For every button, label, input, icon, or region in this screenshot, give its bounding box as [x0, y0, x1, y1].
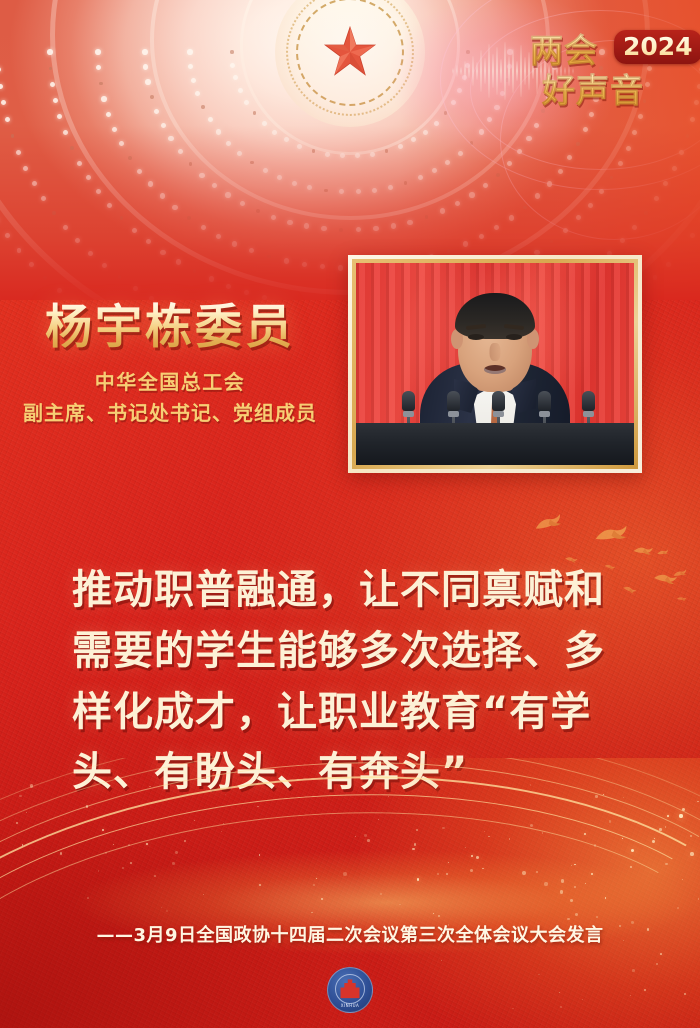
sparkle [470, 869, 473, 872]
sparkle [482, 868, 484, 870]
sparkle [130, 862, 132, 864]
dove-icon [594, 522, 635, 553]
speaker-mouth [484, 365, 506, 374]
sparkle [561, 879, 565, 883]
sparkle [559, 992, 560, 993]
sparkle [570, 899, 573, 902]
sparkle [544, 882, 548, 886]
sparkle [530, 784, 532, 786]
speaker-photo-inner-border [352, 259, 638, 469]
sparkle [87, 897, 89, 899]
sparkle [146, 843, 148, 845]
sparkle [595, 795, 597, 797]
sparkle [652, 840, 655, 843]
sparkle [22, 844, 23, 845]
dove-icon [656, 542, 670, 562]
sparkle [367, 839, 370, 842]
sparkle [259, 884, 261, 886]
sparkle [596, 916, 598, 918]
sparkle [665, 863, 668, 866]
sparkle [60, 852, 62, 854]
sparkle [660, 953, 662, 955]
sparkle [582, 999, 583, 1000]
sparkle [433, 913, 434, 914]
sparkle [690, 852, 694, 856]
sparkle [380, 893, 382, 895]
xinhua-logo-icon: XINHUA [327, 967, 373, 1013]
speaker-eye-right [506, 334, 522, 340]
microphone-band [539, 411, 550, 417]
sparkle [667, 815, 669, 817]
sparkle [172, 862, 174, 864]
dove-icon [671, 563, 690, 584]
sparkle [30, 784, 33, 787]
dove-icon [632, 543, 656, 565]
sparkle [632, 969, 634, 971]
year-badge: 2024 [614, 30, 700, 64]
sparkle [19, 795, 22, 798]
logo-wordmark: XINHUA [341, 1003, 360, 1008]
podium [356, 423, 634, 465]
sparkle [86, 805, 89, 808]
microphone-head [447, 391, 460, 411]
sparkle [446, 873, 448, 875]
dove-icon [675, 587, 689, 608]
dove-icon [533, 510, 570, 541]
microphone-band [493, 411, 504, 417]
sparkle [522, 871, 526, 875]
microphone-band [403, 411, 414, 417]
sparkle [682, 879, 683, 880]
speaker-nose [490, 343, 501, 361]
sparkle [605, 897, 607, 899]
speaker-name: 杨宇栋委员 [0, 300, 340, 355]
speaker-portrait-photo [356, 263, 634, 465]
sparkle [682, 808, 685, 811]
sparkle [679, 814, 682, 817]
speaker-organization: 中华全国总工会 [0, 367, 340, 398]
sparkle [659, 828, 662, 831]
sparkle [257, 806, 258, 807]
sparkle [609, 820, 612, 823]
attribution-line: ——3月9日全国政协十四届二次会议第三次全体会议大会发言 [0, 921, 700, 947]
microphone-band [448, 411, 459, 417]
poster-canvas: 两会 好声音 2024 杨宇栋委员 中华全国总工会 副主席、书记处书记、党组成员 [0, 0, 700, 1028]
microphone-band [583, 411, 594, 417]
speaker-photo-frame [348, 255, 642, 473]
sparkle [98, 870, 100, 872]
sparkle [574, 886, 576, 888]
sparkle [416, 829, 418, 831]
microphone-head [492, 391, 505, 411]
sparkle [343, 872, 346, 875]
sparkle [313, 884, 315, 886]
sparkle [166, 910, 168, 912]
sparkle [441, 960, 442, 961]
sparkle [438, 915, 440, 917]
sparkle [584, 833, 586, 835]
year-badge-label: 2024 [623, 32, 693, 61]
sparkle [644, 989, 646, 991]
microphone-head [402, 391, 415, 411]
brand-logo: 两会 好声音 2024 [528, 24, 684, 106]
brand-line2: 好声音 [542, 64, 644, 112]
sparkle [512, 1008, 513, 1009]
microphone-head [538, 391, 551, 411]
sparkle [665, 826, 666, 827]
sparkle [417, 878, 419, 880]
sparkle [399, 904, 401, 906]
microphone-head [582, 391, 595, 411]
sparkle [154, 875, 156, 877]
speaker-role: 副主席、书记处书记、党组成员 [0, 398, 340, 429]
sparkle [476, 856, 479, 859]
sparkle [448, 862, 449, 863]
sparkle [102, 829, 104, 831]
speaker-info-block: 杨宇栋委员 中华全国总工会 副主席、书记处书记、党组成员 [0, 300, 340, 429]
speaker-eye-left [468, 334, 484, 340]
sparkle [355, 836, 356, 837]
logo-circle: XINHUA [327, 967, 373, 1013]
